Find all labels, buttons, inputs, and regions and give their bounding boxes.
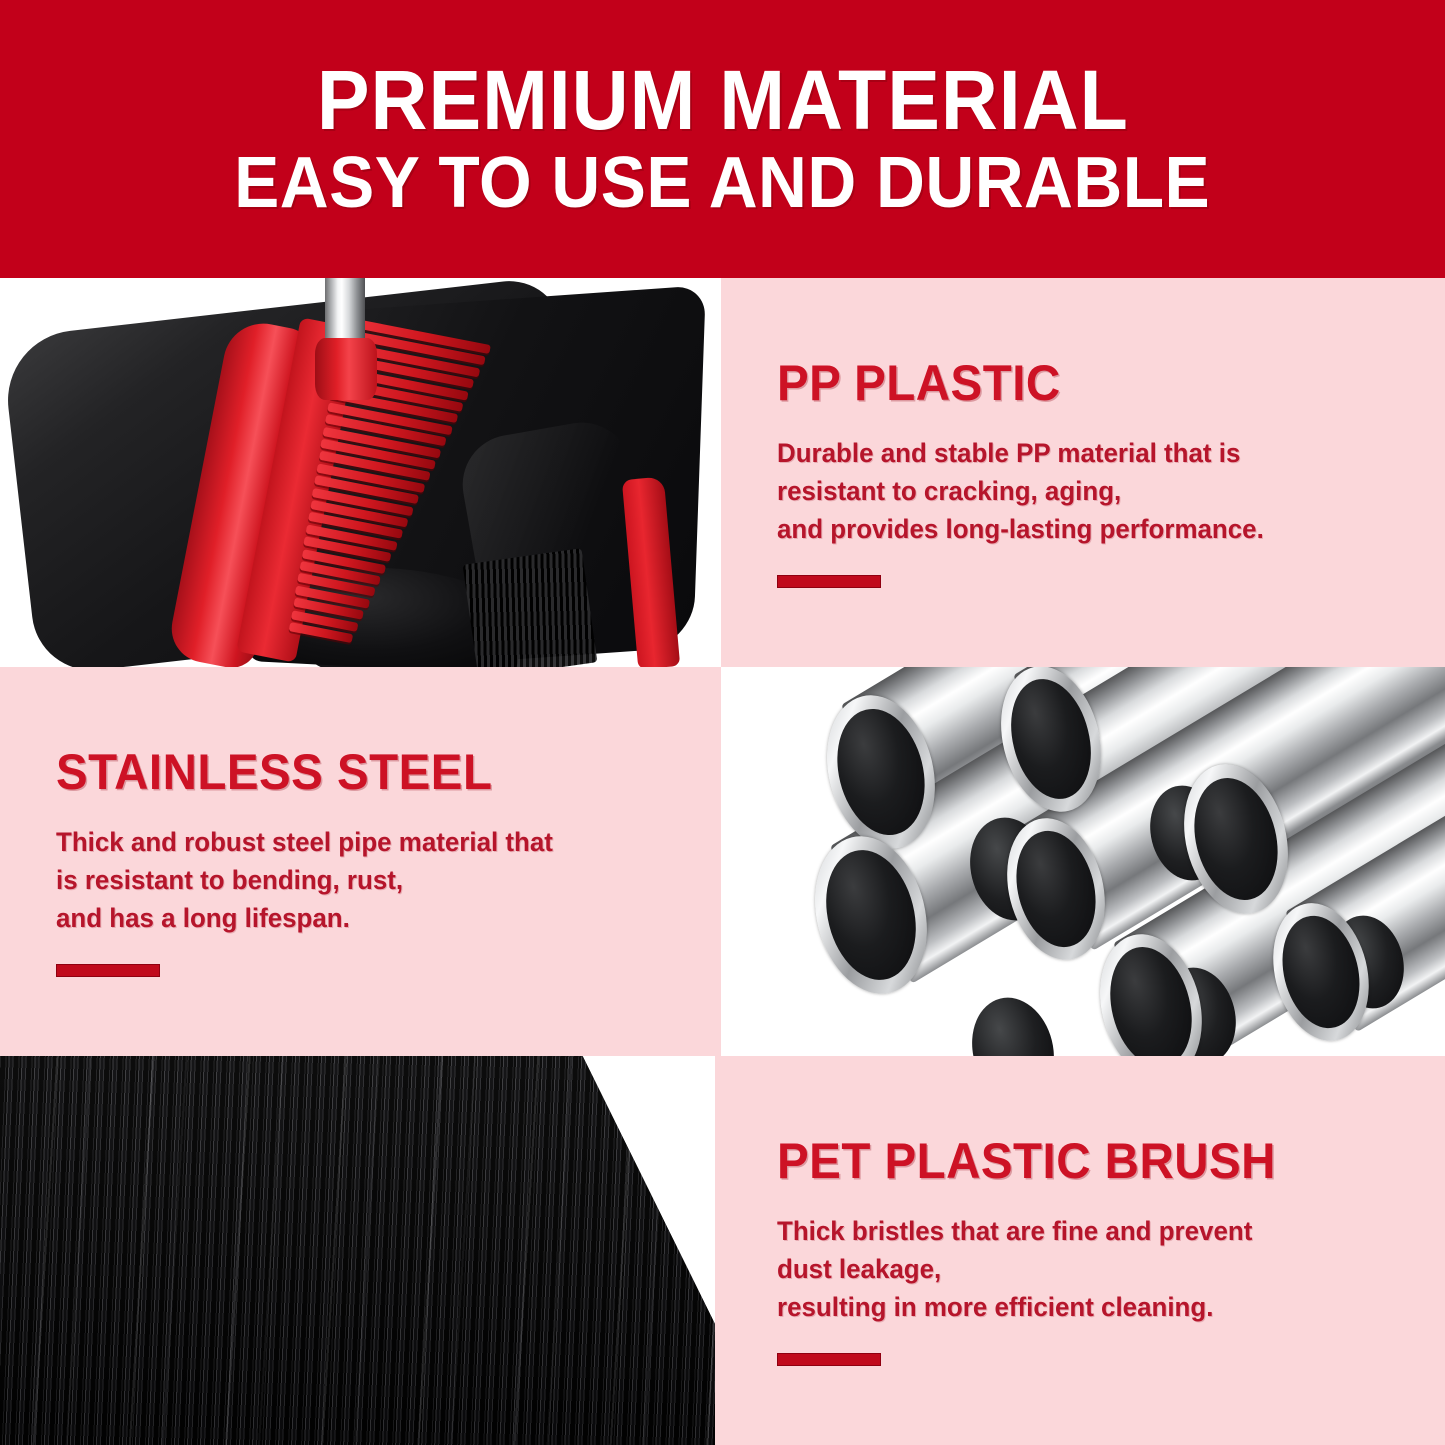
steel-pipes-illustration bbox=[721, 667, 1445, 1056]
feature-text-pp-plastic: PP PLASTIC Durable and stable PP materia… bbox=[721, 278, 1445, 667]
feature-image-pet-brush bbox=[0, 1056, 721, 1445]
panel-body-line: resistant to cracking, aging, bbox=[777, 472, 1365, 510]
panel-body-stainless-steel: Thick and robust steel pipe material tha… bbox=[56, 823, 641, 938]
panel-heading-stainless-steel: STAINLESS STEEL bbox=[56, 746, 635, 799]
dustpan-illustration bbox=[0, 278, 721, 667]
panel-accent-rule bbox=[777, 1353, 881, 1366]
feature-text-pet-brush: PET PLASTIC BRUSH Thick bristles that ar… bbox=[721, 1056, 1445, 1445]
banner-title-primary: PREMIUM MATERIAL bbox=[317, 59, 1129, 141]
pipe-interior-shadow bbox=[961, 989, 1064, 1056]
text-panel-stainless-steel: STAINLESS STEEL Thick and robust steel p… bbox=[0, 667, 721, 1056]
pole-red-collar bbox=[315, 338, 377, 400]
panel-accent-rule bbox=[777, 575, 881, 588]
panel-body-line: Thick and robust steel pipe material tha… bbox=[56, 823, 641, 861]
banner-title-secondary: EASY TO USE AND DURABLE bbox=[234, 147, 1210, 219]
panel-body-line: is resistant to bending, rust, bbox=[56, 861, 641, 899]
feature-grid: PP PLASTIC Durable and stable PP materia… bbox=[0, 278, 1445, 1445]
panel-heading-pp-plastic: PP PLASTIC bbox=[777, 357, 1358, 410]
product-infographic: PREMIUM MATERIAL EASY TO USE AND DURABLE bbox=[0, 0, 1445, 1445]
broom-bristles-illustration bbox=[0, 1056, 721, 1445]
panel-body-line: dust leakage, bbox=[777, 1250, 1365, 1288]
panel-accent-rule bbox=[56, 964, 160, 977]
panel-body-pet-brush: Thick bristles that are fine and prevent… bbox=[777, 1212, 1365, 1327]
feature-image-stainless-steel bbox=[721, 667, 1445, 1056]
panel-body-line: resulting in more efficient cleaning. bbox=[777, 1288, 1365, 1326]
text-panel-pet-brush: PET PLASTIC BRUSH Thick bristles that ar… bbox=[721, 1056, 1445, 1445]
panel-body-line: and has a long lifespan. bbox=[56, 899, 641, 937]
feature-image-pp-plastic bbox=[0, 278, 721, 667]
text-panel-pp-plastic: PP PLASTIC Durable and stable PP materia… bbox=[721, 278, 1445, 667]
feature-text-stainless-steel: STAINLESS STEEL Thick and robust steel p… bbox=[0, 667, 721, 1056]
panel-heading-pet-brush: PET PLASTIC BRUSH bbox=[777, 1135, 1358, 1188]
panel-body-line: Thick bristles that are fine and prevent bbox=[777, 1212, 1365, 1250]
panel-body-line: and provides long-lasting performance. bbox=[777, 510, 1365, 548]
panel-body-line: Durable and stable PP material that is bbox=[777, 434, 1365, 472]
panel-body-pp-plastic: Durable and stable PP material that is r… bbox=[777, 434, 1365, 549]
bristle-fibers bbox=[0, 1056, 721, 1445]
header-banner: PREMIUM MATERIAL EASY TO USE AND DURABLE bbox=[0, 0, 1445, 278]
